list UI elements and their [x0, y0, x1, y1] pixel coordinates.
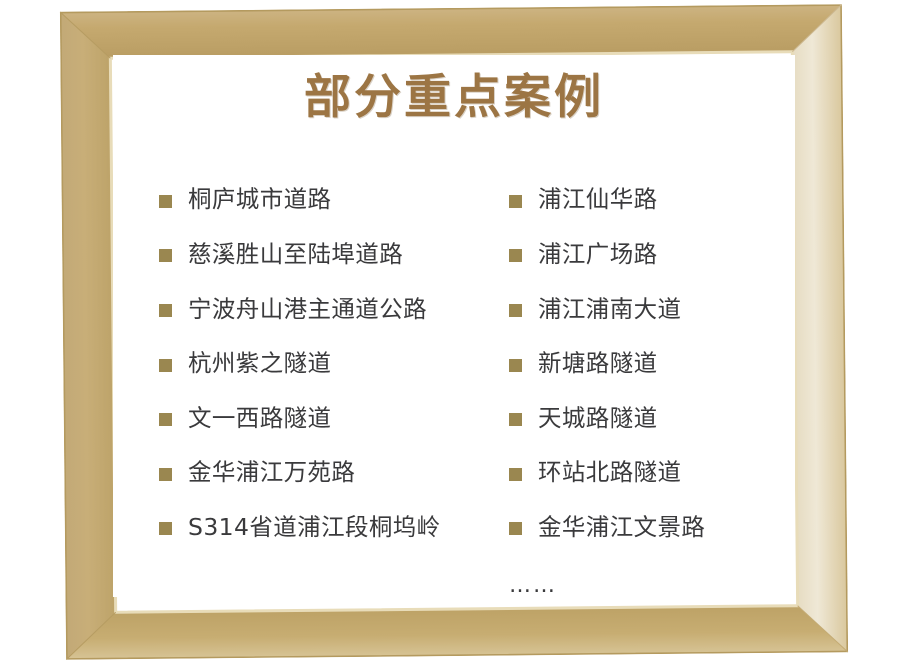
bullet-square-icon [509, 468, 522, 481]
list-item-label: 环站北路隧道 [538, 460, 681, 486]
list-item-label: 金华浦江万苑路 [188, 460, 355, 486]
list-item[interactable]: S314省道浦江段桐坞岭 [159, 501, 519, 556]
list-item-label: 浦江浦南大道 [538, 297, 681, 323]
list-item[interactable]: 慈溪胜山至陆埠道路 [159, 228, 519, 283]
bullet-square-icon [509, 304, 522, 317]
bullet-square-icon [159, 522, 172, 535]
list-item[interactable]: 桐庐城市道路 [159, 173, 519, 228]
bullet-square-icon [159, 195, 172, 208]
list-item-label: 金华浦江文景路 [538, 515, 705, 541]
case-list-column-right: 浦江仙华路 浦江广场路 浦江浦南大道 新塘路隧道 天城路隧道 [509, 173, 795, 555]
bullet-square-icon [159, 359, 172, 372]
list-item-label: 浦江广场路 [538, 242, 658, 268]
list-item-label: 天城路隧道 [538, 406, 658, 432]
bullet-square-icon [509, 249, 522, 262]
list-item-label: 新塘路隧道 [538, 351, 658, 377]
list-item-label: 慈溪胜山至陆埠道路 [188, 242, 403, 268]
list-item-label: 文一西路隧道 [188, 406, 331, 432]
bullet-square-icon [509, 359, 522, 372]
list-item[interactable]: 金华浦江文景路 [509, 501, 795, 556]
list-item-label: 宁波舟山港主通道公路 [188, 297, 427, 323]
list-item[interactable]: 金华浦江万苑路 [159, 446, 519, 501]
bullet-square-icon [159, 304, 172, 317]
list-item-label: S314省道浦江段桐坞岭 [188, 515, 441, 541]
poster-canvas: 部分重点案例 桐庐城市道路 慈溪胜山至陆埠道路 宁波舟山港主通道公路 [113, 55, 795, 597]
list-item-label: 桐庐城市道路 [188, 187, 331, 213]
bullet-square-icon [509, 522, 522, 535]
bullet-square-icon [509, 195, 522, 208]
list-item[interactable]: 文一西路隧道 [159, 391, 519, 446]
bullet-square-icon [159, 413, 172, 426]
bullet-square-icon [159, 468, 172, 481]
bullet-square-icon [509, 413, 522, 426]
list-item[interactable]: 新塘路隧道 [509, 337, 795, 392]
list-item-label: 浦江仙华路 [538, 187, 658, 213]
page-title: 部分重点案例 [113, 73, 795, 122]
list-item[interactable]: 浦江仙华路 [509, 173, 795, 228]
list-item-label: 杭州紫之隧道 [188, 351, 331, 377]
poster-root: 部分重点案例 桐庐城市道路 慈溪胜山至陆埠道路 宁波舟山港主通道公路 [0, 0, 900, 666]
more-items-ellipsis: …… [509, 573, 557, 597]
list-item[interactable]: 杭州紫之隧道 [159, 337, 519, 392]
list-item[interactable]: 浦江广场路 [509, 228, 795, 283]
list-item[interactable]: 浦江浦南大道 [509, 282, 795, 337]
list-item[interactable]: 环站北路隧道 [509, 446, 795, 501]
list-item[interactable]: 天城路隧道 [509, 391, 795, 446]
list-item[interactable]: 宁波舟山港主通道公路 [159, 282, 519, 337]
case-list-column-left: 桐庐城市道路 慈溪胜山至陆埠道路 宁波舟山港主通道公路 杭州紫之隧道 文一西路隧 [159, 173, 519, 555]
bullet-square-icon [159, 249, 172, 262]
